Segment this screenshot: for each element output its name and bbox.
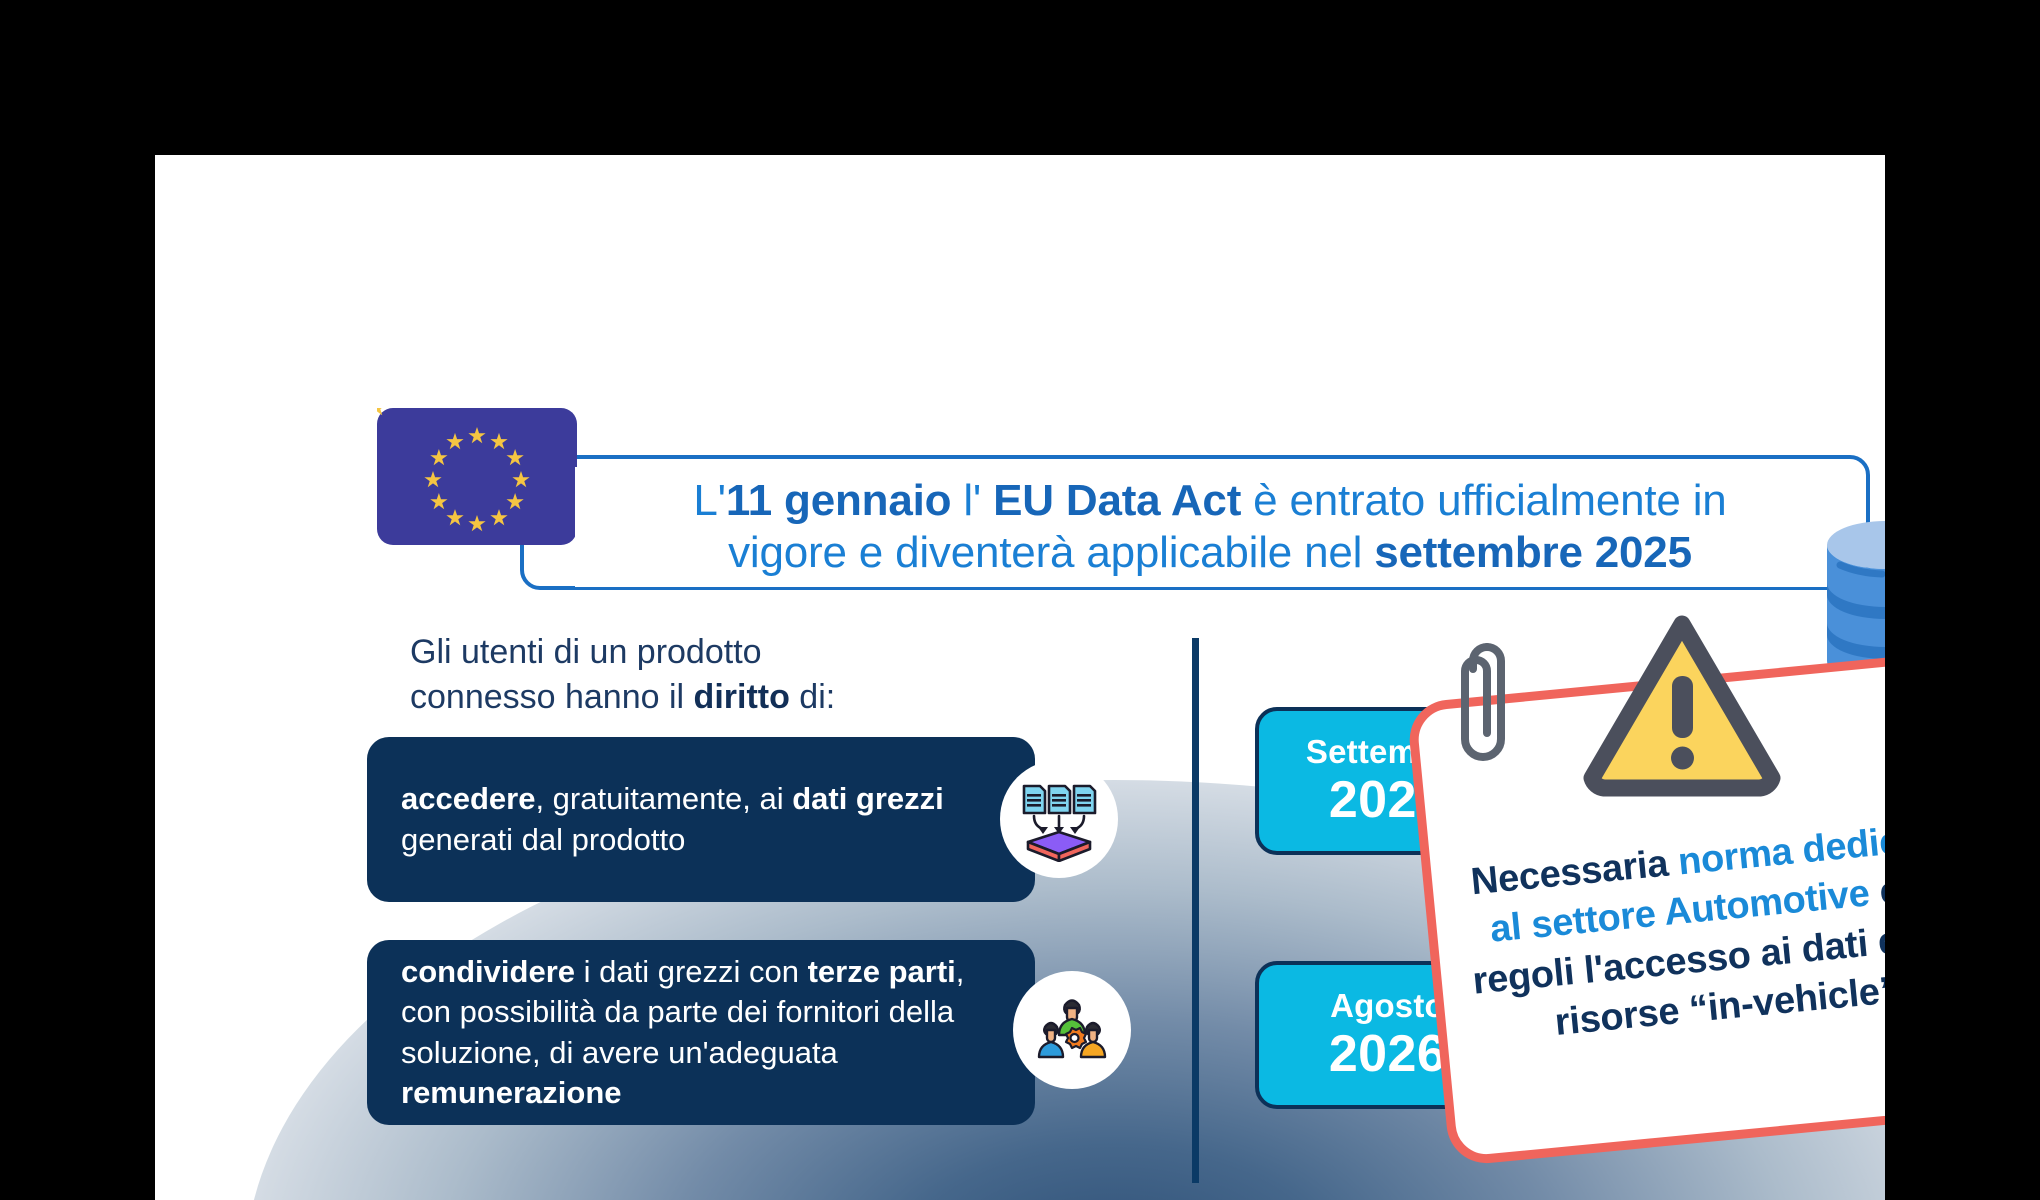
header-line1-suffix: è entrato ufficialmente in: [1241, 476, 1726, 525]
badge-year: 2026: [1329, 1027, 1446, 1081]
header-line1-prefix: L': [693, 476, 725, 525]
badge-month: Agosto: [1330, 989, 1445, 1023]
header-line2-prefix: vigore e diventerà applicabile nel: [728, 528, 1374, 577]
card-share-bold1: condividere: [401, 954, 575, 989]
card-access-bold1: accedere: [401, 781, 535, 816]
card-access-text2: generati dal prodotto: [401, 822, 685, 857]
header-act-bold: EU Data Act: [993, 476, 1241, 525]
card-access-text: accedere, gratuitamente, ai dati grezzi …: [401, 737, 1001, 902]
paperclip-icon: [1443, 617, 1523, 797]
eu-flag-icon: [377, 408, 577, 545]
card-access-bold2: dati grezzi: [792, 781, 944, 816]
slide-canvas: L'11 gennaio l' EU Data Act è entrato uf…: [155, 155, 1885, 1200]
people-gear-icon: [1013, 971, 1131, 1089]
card-share-bold2: terze parti: [808, 954, 956, 989]
intro-line1: Gli utenti di un prodotto: [410, 633, 762, 671]
intro-line2-prefix: connesso hanno il: [410, 678, 694, 716]
column-divider: [1192, 638, 1199, 1183]
intro-line2-suffix: di:: [790, 678, 835, 716]
card-share-bold3: remunerazione: [401, 1075, 622, 1110]
intro-diritto-bold: diritto: [694, 678, 790, 716]
right-card-share: condividere i dati grezzi con terze part…: [367, 940, 1035, 1125]
card-access-text1: , gratuitamente, ai: [535, 781, 792, 816]
left-intro-text: Gli utenti di un prodotto connesso hanno…: [410, 630, 910, 720]
header-line2-bold: settembre 2025: [1374, 528, 1692, 577]
header-line1-mid: l': [951, 476, 993, 525]
right-card-access: accedere, gratuitamente, ai dati grezzi …: [367, 737, 1035, 902]
documents-to-platform-icon: [1000, 760, 1118, 878]
header-date-bold: 11 gennaio: [726, 476, 951, 525]
card-share-text: condividere i dati grezzi con terze part…: [401, 940, 1001, 1125]
card-share-text1: i dati grezzi con: [575, 954, 808, 989]
header-title: L'11 gennaio l' EU Data Act è entrato uf…: [575, 467, 1845, 587]
